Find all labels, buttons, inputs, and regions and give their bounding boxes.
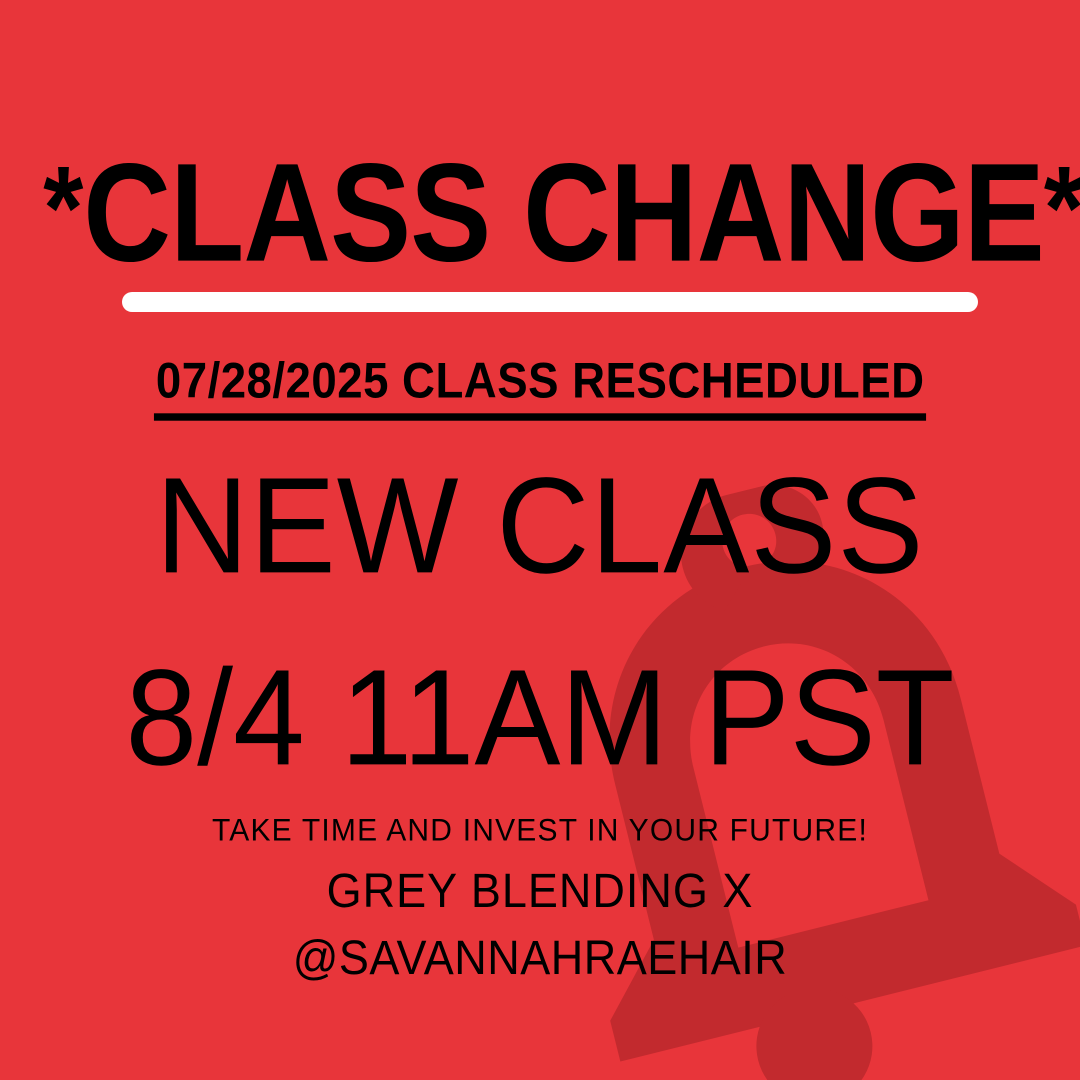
asterisk-right-decoration: * <box>1044 142 1080 274</box>
footer-block: TAKE TIME AND INVEST IN YOUR FUTURE! GRE… <box>0 816 1080 980</box>
footer-service-name: GREY BLENDING X <box>0 866 1080 915</box>
footer-social-handle: @SAVANNAHRAEHAIR <box>0 933 1080 982</box>
reschedule-notice: 07/28/2025 CLASS RESCHEDULED <box>154 355 927 421</box>
divider-bar <box>122 292 978 312</box>
poster-canvas: *CLASS CHANGE* 07/28/2025 CLASS RESCHEDU… <box>0 0 1080 1080</box>
new-class-label: NEW CLASS <box>0 458 1080 594</box>
page-title: *CLASS CHANGE* <box>43 143 1037 283</box>
poster-content: *CLASS CHANGE* 07/28/2025 CLASS RESCHEDU… <box>0 0 1080 1080</box>
footer-tagline: TAKE TIME AND INVEST IN YOUR FUTURE! <box>0 815 1080 847</box>
new-class-datetime: 8/4 11AM PST <box>0 650 1080 786</box>
subtitle-row: 07/28/2025 CLASS RESCHEDULED <box>0 355 1080 417</box>
page-title-text: CLASS CHANGE <box>83 135 1044 291</box>
asterisk-left-decoration: * <box>43 142 83 274</box>
